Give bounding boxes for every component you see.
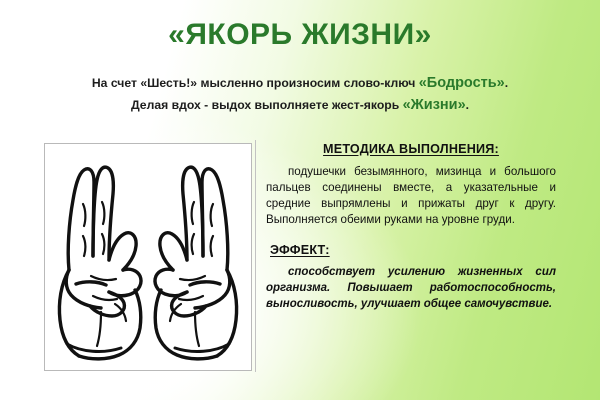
poster-canvas: «ЯКОРЬ ЖИЗНИ» На счет «Шесть!» мысленно … xyxy=(0,0,600,400)
hands-gesture-icon xyxy=(45,144,251,370)
subtitle-line-1-keyword: «Бодрость» xyxy=(419,75,505,91)
section-effect-heading: ЭФФЕКТ: xyxy=(270,243,330,257)
section-effect-heading-wrap: ЭФФЕКТ: xyxy=(270,241,556,259)
subtitle-line-1-suffix: . xyxy=(505,76,508,90)
subtitle-line-2: Делая вдох - выдох выполняете жест-якорь… xyxy=(40,94,560,116)
section-effect-body: способствует усилению жизненных сил орга… xyxy=(266,264,556,312)
subtitle-line-1-text: На счет «Шесть!» мысленно произносим сло… xyxy=(92,76,419,90)
column-divider xyxy=(255,140,256,372)
section-effect: ЭФФЕКТ: способствует усилению жизненных … xyxy=(266,241,556,312)
section-method-heading: МЕТОДИКА ВЫПОЛНЕНИЯ: xyxy=(323,142,499,156)
subtitle-line-2-suffix: . xyxy=(466,98,469,112)
subtitle-line-1: На счет «Шесть!» мысленно произносим сло… xyxy=(40,72,560,94)
subtitle-line-2-text: Делая вдох - выдох выполняете жест-якорь xyxy=(131,98,403,112)
content-area: МЕТОДИКА ВЫПОЛНЕНИЯ: подушечки безымянно… xyxy=(44,140,556,372)
page-title: «ЯКОРЬ ЖИЗНИ» xyxy=(0,18,600,51)
text-column: МЕТОДИКА ВЫПОЛНЕНИЯ: подушечки безымянно… xyxy=(266,140,556,312)
section-method-heading-wrap: МЕТОДИКА ВЫПОЛНЕНИЯ: xyxy=(266,140,556,158)
section-method: МЕТОДИКА ВЫПОЛНЕНИЯ: подушечки безымянно… xyxy=(266,140,556,228)
subtitle-block: На счет «Шесть!» мысленно произносим сло… xyxy=(40,72,560,117)
section-method-body: подушечки безымянного, мизинца и большог… xyxy=(266,164,556,228)
subtitle-line-2-keyword: «Жизни» xyxy=(403,97,466,113)
hands-gesture-illustration xyxy=(44,143,252,371)
